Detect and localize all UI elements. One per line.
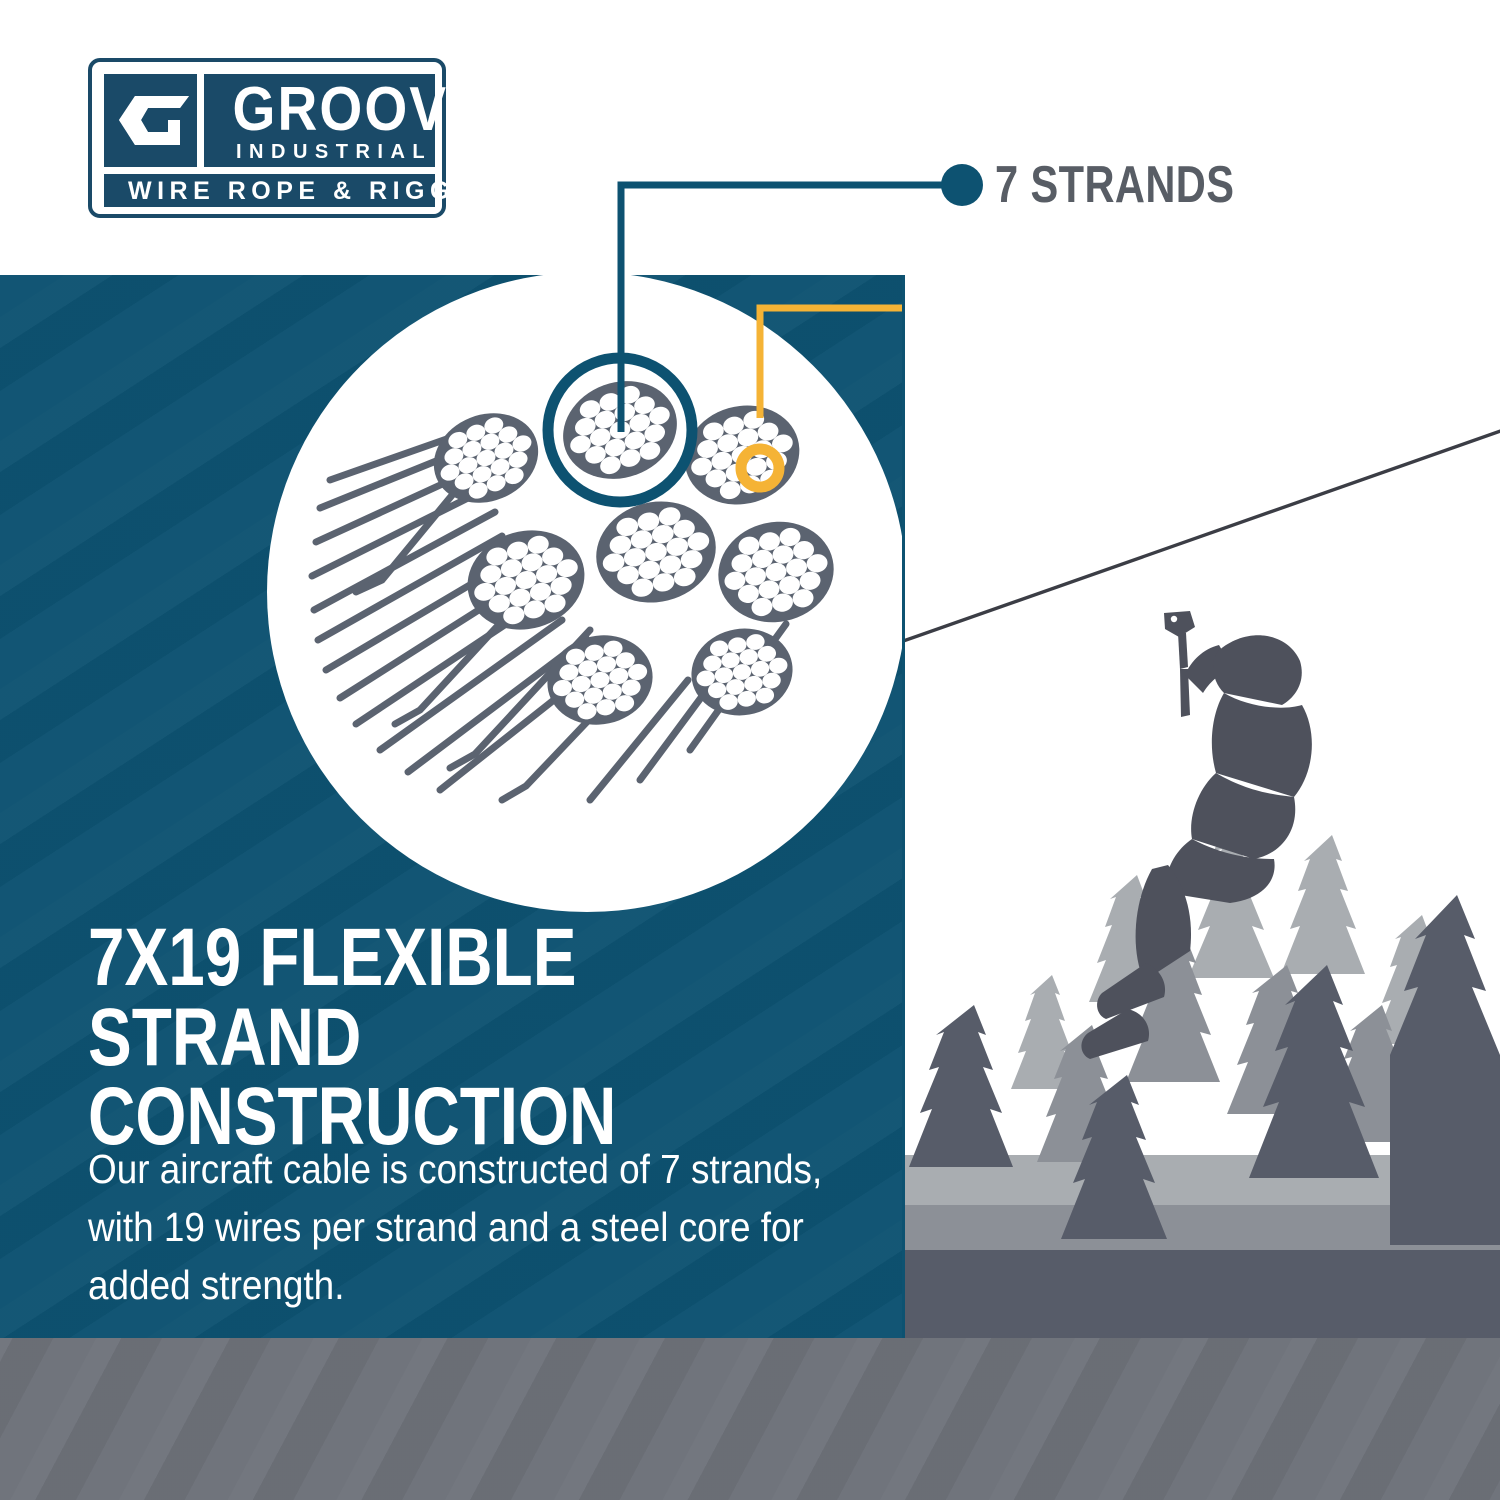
logo-subword: INDUSTRIAL <box>236 141 432 163</box>
photo-panel-divider <box>902 275 905 1338</box>
infographic-canvas: GROOVE INDUSTRIAL WIRE ROPE & RIGGING GR… <box>0 0 1500 1500</box>
bottom-grey-band <box>0 1338 1500 1500</box>
page-headline: 7X19 FLEXIBLE STRAND CONSTRUCTION <box>88 918 888 1157</box>
wire-rope-illustration <box>290 280 910 840</box>
logo-tagline: WIRE ROPE & RIGGING <box>128 177 446 205</box>
logo-mark-cell <box>104 74 197 167</box>
headline-line-2: STRAND CONSTRUCTION <box>88 998 888 1157</box>
zipline-photo <box>902 275 1500 1338</box>
callout-label-strands: 7 STRANDS <box>995 155 1234 215</box>
callout-dot-strands <box>941 164 983 206</box>
band-wave-texture <box>0 1338 1500 1500</box>
headline-line-1: 7X19 FLEXIBLE <box>88 912 577 1003</box>
logo-wordmark: GROOVE <box>233 75 446 144</box>
brand-logo[interactable]: GROOVE INDUSTRIAL WIRE ROPE & RIGGING <box>88 58 446 218</box>
body-copy: Our aircraft cable is constructed of 7 s… <box>88 1140 844 1315</box>
